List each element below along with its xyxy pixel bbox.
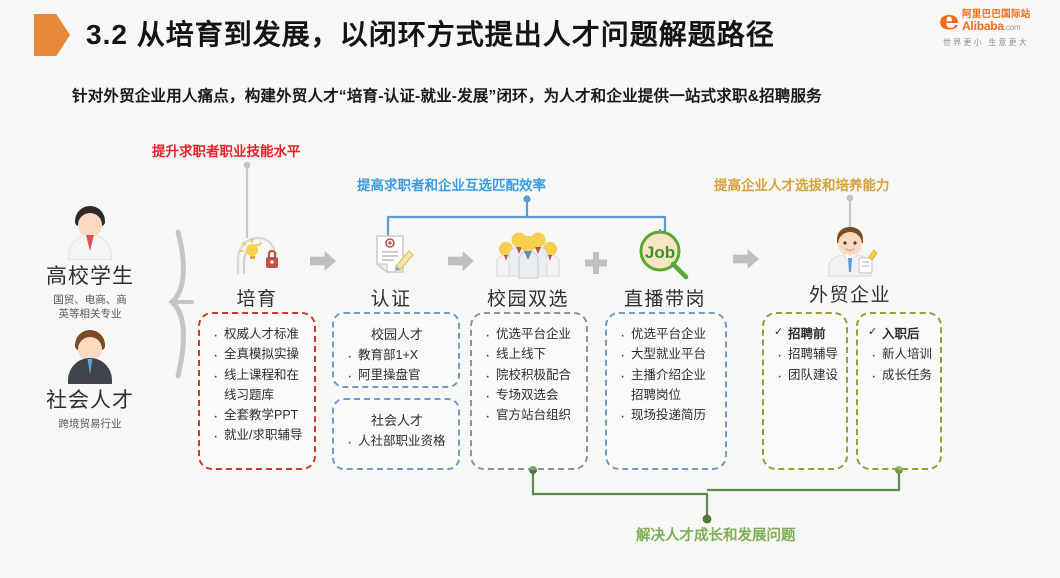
persona-professional-name: 社会人才 bbox=[20, 384, 160, 414]
persona-student: 高校学生 国贸、电商、商 英等相关专业 bbox=[20, 206, 160, 321]
list-item: 成长任务 bbox=[868, 365, 932, 385]
title-text: 3.2 从培育到发展，以闭环方式提出人才问题解题路径 bbox=[86, 14, 775, 56]
list-item: 团队建设 bbox=[774, 365, 838, 385]
list-item: 就业/求职辅导 bbox=[210, 425, 306, 445]
subtitle-text: 针对外贸企业用人痛点，构建外贸人才“培育-认证-就业-发展”闭环，为人才和企业提… bbox=[72, 84, 1032, 106]
list-item: 官方站台组织 bbox=[482, 405, 578, 425]
logo-en-suffix: .com bbox=[1004, 23, 1021, 32]
slide-canvas: 3.2 从培育到发展，以闭环方式提出人才问题解题路径 针对外贸企业用人痛点，构建… bbox=[0, 0, 1060, 578]
stage-zhibo-card: 优选平台企业 大型就业平台 主播介绍企业 招聘岗位 现场投递简历 bbox=[605, 312, 727, 470]
list-item: 现场投递简历 bbox=[617, 405, 717, 425]
group-heading: 招聘前 bbox=[774, 324, 838, 344]
list-item: 全真模拟实操 bbox=[210, 344, 306, 364]
logo-en-text: Alibaba.com bbox=[962, 20, 1031, 33]
stage-qiye-card-before: 招聘前 招聘辅导 团队建设 bbox=[762, 312, 848, 470]
logo-main: e 阿里巴巴国际站 Alibaba.com bbox=[926, 8, 1046, 34]
logo-en-main: Alibaba bbox=[962, 19, 1004, 33]
list-item: 大型就业平台 bbox=[617, 344, 717, 364]
list-item: 招聘岗位 bbox=[617, 385, 717, 405]
stage-qiye-card-after: 入职后 新人培训 成长任务 bbox=[856, 312, 942, 470]
stage-renzheng-name: 认证 bbox=[332, 284, 450, 311]
annotation-middle-label: 提高求职者和企业互选匹配效率 bbox=[357, 174, 546, 194]
group-heading: 校园人才 bbox=[344, 324, 450, 343]
list-item: 线上课程和在 bbox=[210, 365, 306, 385]
page-title: 3.2 从培育到发展，以闭环方式提出人才问题解题路径 bbox=[34, 14, 775, 56]
stage-renzheng-card-campus: 校园人才 教育部1+X 阿里操盘官 bbox=[332, 312, 460, 388]
head-lightbulb-lock-icon bbox=[198, 228, 316, 282]
stage-zhibo-name: 直播带岗 bbox=[604, 284, 726, 311]
stage-shuangxuan: 校园双选 bbox=[467, 228, 589, 311]
list-item: 院校积极配合 bbox=[482, 365, 578, 385]
certificate-pen-icon bbox=[332, 228, 450, 282]
list-item: 主播介绍企业 bbox=[617, 365, 717, 385]
group-heading: 社会人才 bbox=[344, 410, 450, 429]
annotation-bottom-label: 解决人才成长和发展问题 bbox=[636, 524, 796, 545]
group-heading: 入职后 bbox=[868, 324, 932, 344]
logo-words: 阿里巴巴国际站 Alibaba.com bbox=[962, 10, 1031, 33]
persona-professional: 社会人才 跨境贸易行业 bbox=[20, 330, 160, 431]
logo-tagline: 世界更小 生意更大 bbox=[926, 37, 1046, 48]
persona-student-desc-line1: 国贸、电商、商 bbox=[20, 293, 160, 307]
title-marker-icon bbox=[34, 14, 70, 56]
stage-qiye-name: 外贸企业 bbox=[760, 280, 940, 307]
alibaba-mark-icon: e bbox=[939, 8, 960, 34]
persona-professional-desc: 跨境贸易行业 bbox=[20, 417, 160, 431]
stage-zhibo: Job 直播带岗 bbox=[604, 228, 726, 311]
businessman-avatar-icon bbox=[760, 224, 940, 278]
stage-qiye: 外贸企业 bbox=[760, 224, 940, 307]
stage-renzheng: 认证 bbox=[332, 228, 450, 311]
stage-shuangxuan-name: 校园双选 bbox=[467, 284, 589, 311]
student-avatar-icon bbox=[62, 206, 118, 258]
alibaba-logo: e 阿里巴巴国际站 Alibaba.com 世界更小 生意更大 bbox=[926, 8, 1046, 48]
stage-peiyu-name: 培育 bbox=[198, 284, 316, 311]
job-magnifier-icon: Job bbox=[604, 228, 726, 282]
annotation-left-label: 提升求职者职业技能水平 bbox=[152, 140, 301, 160]
stage-peiyu-card: 权威人才标准 全真模拟实操 线上课程和在 线习题库 全套教学PPT 就业/求职辅… bbox=[198, 312, 316, 470]
persona-student-name: 高校学生 bbox=[20, 260, 160, 290]
list-item: 优选平台企业 bbox=[617, 324, 717, 344]
svg-text:Job: Job bbox=[645, 243, 675, 262]
list-item: 招聘辅导 bbox=[774, 344, 838, 364]
stage-shuangxuan-card: 优选平台企业 线上线下 院校积极配合 专场双选会 官方站台组织 bbox=[470, 312, 588, 470]
list-item: 线上线下 bbox=[482, 344, 578, 364]
list-item: 新人培训 bbox=[868, 344, 932, 364]
list-item: 优选平台企业 bbox=[482, 324, 578, 344]
professional-avatar-icon bbox=[62, 330, 118, 382]
list-item: 人社部职业资格 bbox=[344, 431, 450, 451]
list-item: 权威人才标准 bbox=[210, 324, 306, 344]
block-arrow-icon-3 bbox=[733, 249, 759, 269]
list-item: 专场双选会 bbox=[482, 385, 578, 405]
persona-student-desc-line2: 英等相关专业 bbox=[20, 307, 160, 321]
list-item: 线习题库 bbox=[210, 385, 306, 405]
annotation-right-label: 提高企业人才选拔和培养能力 bbox=[714, 174, 890, 194]
list-item: 阿里操盘官 bbox=[344, 365, 450, 385]
stage-peiyu: 培育 bbox=[198, 228, 316, 311]
list-item: 教育部1+X bbox=[344, 345, 450, 365]
list-item: 全套教学PPT bbox=[210, 405, 306, 425]
group-people-icon bbox=[467, 228, 589, 282]
stage-renzheng-card-social: 社会人才 人社部职业资格 bbox=[332, 398, 460, 470]
persona-student-desc: 国贸、电商、商 英等相关专业 bbox=[20, 293, 160, 321]
